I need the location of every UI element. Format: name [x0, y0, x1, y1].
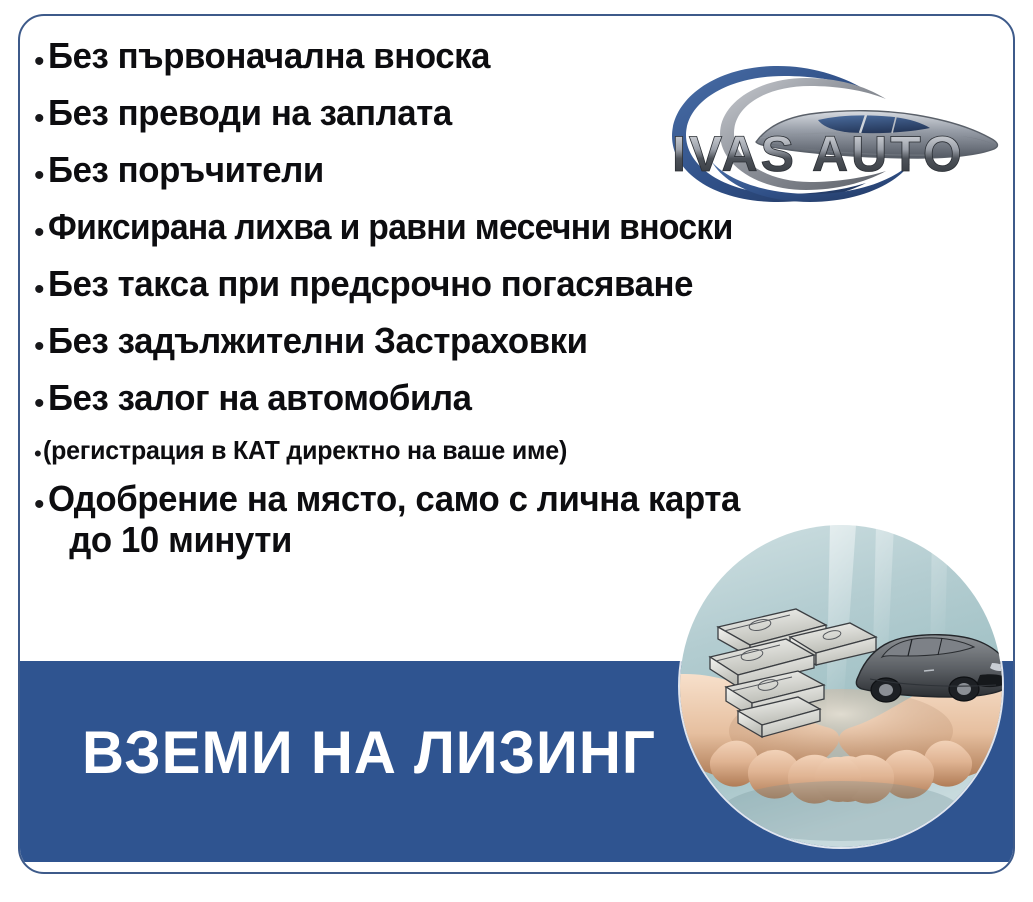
benefit-label: (регистрация в КАТ директно на ваше име): [43, 437, 971, 464]
benefit-label: Фиксирана лихва и равни месечни вноски: [48, 209, 947, 246]
bullet-icon: •: [34, 266, 45, 305]
benefit-item-no-downpayment: • Без първоначална вноска: [34, 38, 1009, 77]
bullet-icon: •: [34, 437, 42, 465]
benefit-item-fixed-interest: • Фиксирана лихва и равни месечни вноски: [34, 209, 1009, 248]
benefit-item-no-salary-transfer: • Без преводи на заплата: [34, 95, 1009, 134]
benefit-item-kat-registration-note: • (регистрация в КАТ директно на ваше им…: [34, 437, 1009, 465]
benefit-label: Без такса при предсрочно погасяване: [48, 266, 976, 303]
bullet-icon: •: [34, 481, 45, 520]
benefit-item-no-early-repayment-fee: • Без такса при предсрочно погасяване: [34, 266, 1009, 305]
benefit-list: • Без първоначална вноска • Без преводи …: [34, 38, 1009, 576]
bullet-icon: •: [34, 323, 45, 362]
bullet-icon: •: [34, 152, 45, 191]
benefit-label-line1: Одобрение на място, само с лична карта: [48, 478, 740, 519]
bullet-icon: •: [34, 95, 45, 134]
benefit-item-no-guarantors: • Без поръчители: [34, 152, 1009, 191]
cta-label: ВЗЕМИ НА ЛИЗИНГ: [82, 723, 656, 783]
benefit-label: Без поръчители: [48, 152, 976, 189]
benefit-label: Без първоначална вноска: [48, 38, 976, 75]
bullet-icon: •: [34, 209, 45, 248]
benefit-label: Без задължителни Застраховки: [48, 323, 976, 360]
benefit-label: Без преводи на заплата: [48, 95, 976, 132]
benefit-item-no-mandatory-insurance: • Без задължителни Застраховки: [34, 323, 1009, 362]
hands-holding-money-and-car-photo: [680, 525, 1002, 847]
bullet-icon: •: [34, 380, 45, 419]
promo-card: IVAS AUTO • Без първоначална вноска • Бе…: [18, 14, 1015, 874]
bullet-icon: •: [34, 38, 45, 77]
benefit-label: Без залог на автомобила: [48, 380, 976, 417]
benefit-item-no-car-lien: • Без залог на автомобила: [34, 380, 1009, 419]
